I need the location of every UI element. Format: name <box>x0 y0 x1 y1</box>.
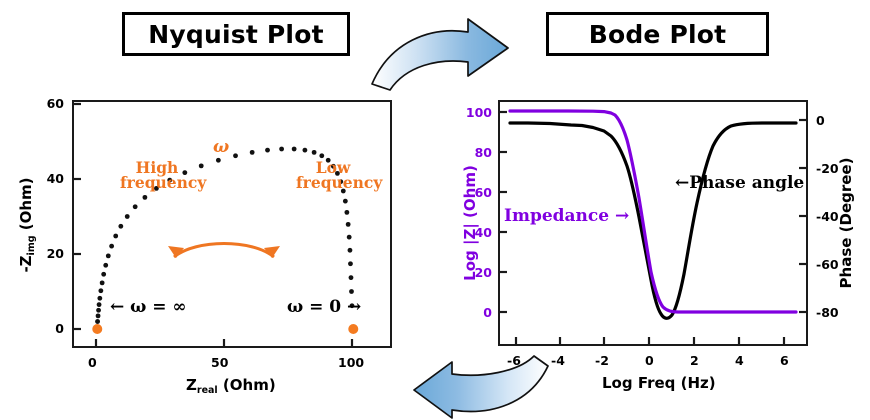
omega-infinity-label: ← ω = ∞ <box>110 297 187 317</box>
figure-canvas: Nyquist Plot Bode Plot <box>0 0 870 420</box>
nyquist-ytick-60: 60 <box>30 96 64 111</box>
bode-left-ytick-100: 100 <box>448 105 492 120</box>
nyquist-xtick-50: 50 <box>211 355 228 370</box>
high-frequency-label: High frequency <box>120 160 194 190</box>
omega-symbol-label: ω <box>213 140 229 155</box>
nyquist-ytick-0: 0 <box>30 321 64 336</box>
arrow-nyquist-to-bode-icon <box>368 18 558 98</box>
low-frequency-label: Low frequency <box>296 160 370 190</box>
bode-xtick-6: 6 <box>780 353 789 368</box>
bode-left-yaxis-title: Log |Z| (Ohm) <box>461 133 479 313</box>
nyquist-xtick-100: 100 <box>338 355 364 370</box>
nyquist-xtick-0: 0 <box>88 355 97 370</box>
omega-arc-annotation <box>168 244 280 259</box>
arrow-bode-to-nyquist-icon <box>352 352 552 420</box>
bode-xtick-m2: -2 <box>595 353 609 368</box>
nyquist-xaxis-sub: real <box>197 385 218 396</box>
low-frequency-line2: frequency <box>296 175 370 190</box>
bode-right-yaxis-title: Phase (Degree) <box>837 133 855 313</box>
bode-xtick-2: 2 <box>690 353 699 368</box>
bode-right-ytick-m80: -80 <box>816 305 839 320</box>
nyquist-yaxis-main: -Z <box>17 255 35 272</box>
omega-infinity-point <box>92 324 102 334</box>
nyquist-title-box: Nyquist Plot <box>122 12 350 56</box>
bode-xtick-0: 0 <box>645 353 654 368</box>
nyquist-xaxis-title: Zreal (Ohm) <box>186 376 276 394</box>
impedance-label: Impedance → <box>504 206 629 226</box>
omega-zero-point <box>348 324 358 334</box>
bode-right-ytick-m40: -40 <box>816 209 839 224</box>
nyquist-xaxis-main: Z <box>186 376 197 394</box>
bode-xtick-m6: -6 <box>507 353 521 368</box>
nyquist-xaxis-unit: (Ohm) <box>218 376 276 394</box>
bode-right-ytick-0: 0 <box>816 113 825 128</box>
high-frequency-line2: frequency <box>120 175 194 190</box>
omega-zero-label: ω = 0 → <box>287 297 361 317</box>
nyquist-yaxis-title: -Zimg (Ohm) <box>17 170 35 280</box>
bode-title-box: Bode Plot <box>546 12 769 56</box>
nyquist-yaxis-unit: (Ohm) <box>17 177 35 235</box>
bode-xaxis-title: Log Freq (Hz) <box>602 374 716 392</box>
nyquist-ytick-40: 40 <box>30 171 64 186</box>
phase-angle-label: ←Phase angle <box>675 173 804 193</box>
bode-right-ytick-m60: -60 <box>816 257 839 272</box>
bode-right-ytick-m20: -20 <box>816 161 839 176</box>
bode-xtick-4: 4 <box>735 353 744 368</box>
nyquist-yaxis-sub: img <box>26 235 37 255</box>
bode-xtick-m4: -4 <box>551 353 565 368</box>
